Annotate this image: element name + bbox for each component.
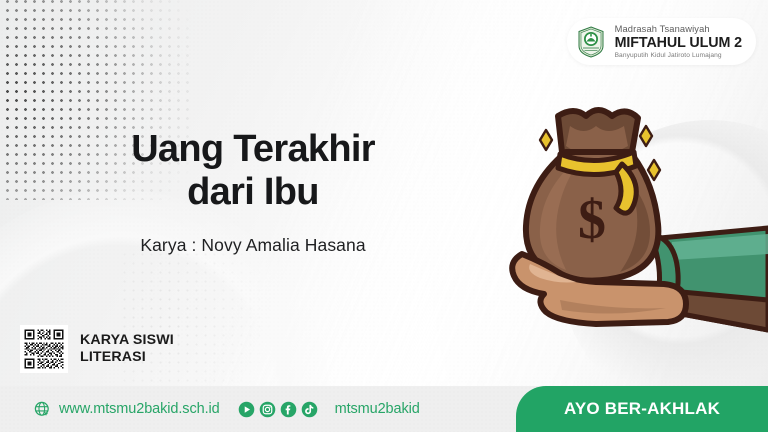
qr-code[interactable] <box>20 325 68 373</box>
literasi-label: KARYA SISWI LITERASI <box>80 332 174 367</box>
tiktok-icon[interactable] <box>301 401 318 418</box>
dollar-symbol: $ <box>578 189 606 251</box>
youtube-icon[interactable] <box>238 401 255 418</box>
sparkle-icon <box>540 130 552 150</box>
logo-text-block: Madrasah Tsanawiyah MIFTAHUL ULUM 2 Bany… <box>615 24 742 59</box>
logo-line-3: Banyuputih Kidul Jatiroto Lumajang <box>615 53 742 60</box>
author-byline: Karya : Novy Amalia Hasana <box>0 235 506 256</box>
footer-contact-group: www.mtsmu2bakid.sch.id <box>34 386 420 432</box>
sparkle-icon <box>648 160 660 180</box>
slide-canvas: Madrasah Tsanawiyah MIFTAHUL ULUM 2 Bany… <box>0 0 768 432</box>
page-title: Uang Terakhir dari Ibu <box>0 128 506 213</box>
literasi-label-line-2: LITERASI <box>80 349 174 366</box>
title-line-2: dari Ibu <box>187 171 319 213</box>
social-handle[interactable]: mtsmu2bakid <box>335 401 420 417</box>
footer-bar: www.mtsmu2bakid.sch.id <box>0 386 768 432</box>
title-block: Uang Terakhir dari Ibu Karya : Novy Amal… <box>0 128 520 256</box>
literasi-label-line-1: KARYA SISWI <box>80 332 174 349</box>
literasi-badge: KARYA SISWI LITERASI <box>20 325 174 373</box>
madrasah-emblem-icon <box>576 26 606 58</box>
school-logo-badge: Madrasah Tsanawiyah MIFTAHUL ULUM 2 Bany… <box>567 18 756 65</box>
cta-banner[interactable]: AYO BER-AKHLAK <box>516 386 768 432</box>
hand-holding-money-bag-illustration: $ <box>500 78 768 346</box>
zigzag-wave-icon <box>472 34 580 60</box>
cta-label: AYO BER-AKHLAK <box>564 399 720 419</box>
website-url[interactable]: www.mtsmu2bakid.sch.id <box>59 401 220 417</box>
logo-line-2: MIFTAHUL ULUM 2 <box>615 36 742 50</box>
logo-line-1: Madrasah Tsanawiyah <box>615 25 742 34</box>
social-icons-row <box>238 401 318 418</box>
title-line-1: Uang Terakhir <box>131 128 375 170</box>
instagram-icon[interactable] <box>259 401 276 418</box>
sparkle-icon <box>640 126 652 146</box>
facebook-icon[interactable] <box>280 401 297 418</box>
globe-icon <box>34 401 51 418</box>
